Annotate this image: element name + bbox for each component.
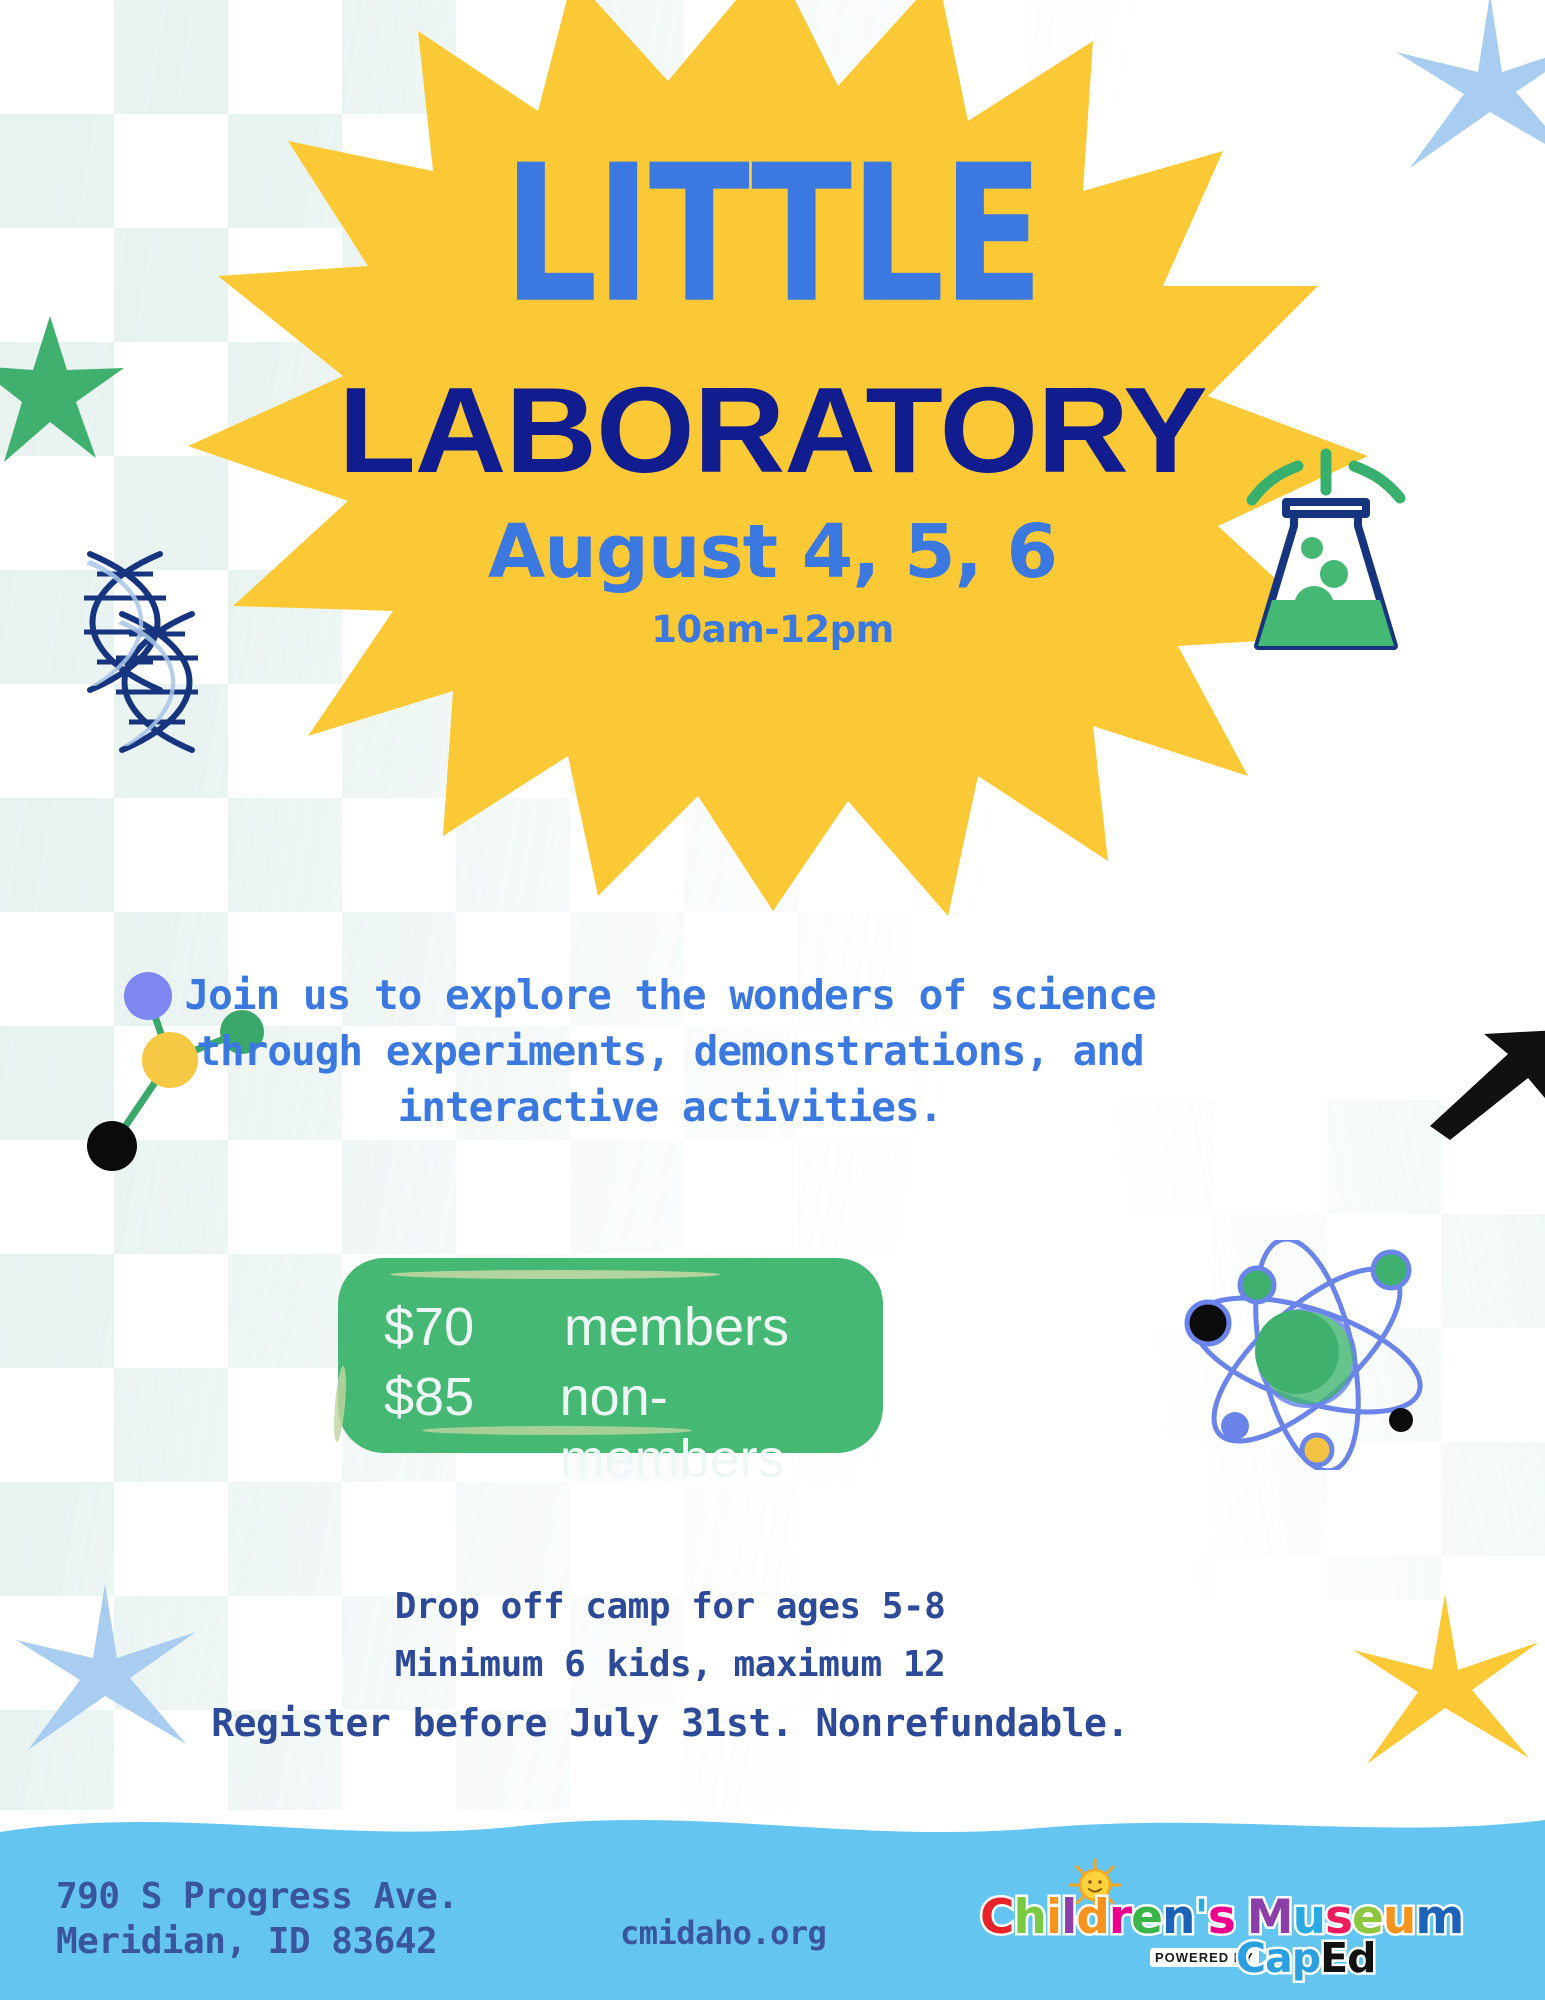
event-date: August 4, 5, 6	[0, 515, 1545, 589]
detail-line-ages: Drop off camp for ages 5-8	[120, 1578, 1220, 1636]
website-url[interactable]: cmidaho.org	[620, 1914, 826, 1952]
atom-icon	[1175, 1240, 1435, 1470]
price-amount-members: $70	[384, 1296, 534, 1358]
logo-letter-e: e	[1131, 1890, 1162, 1945]
caped-ed-text: Ed	[1320, 1934, 1375, 1982]
pricing-callout: $70 members $85 non-members	[338, 1258, 883, 1453]
intro-paragraph: Join us to explore the wonders of scienc…	[170, 968, 1170, 1135]
logo-letter-C: C	[980, 1890, 1014, 1945]
dark-arrow-icon	[1430, 1030, 1545, 1140]
caped-sponsor-mark: CapEd	[1236, 1934, 1375, 1982]
logo-letter-r: r	[1109, 1890, 1131, 1945]
caped-cap-text: Cap	[1236, 1934, 1320, 1982]
logo-letter-m2: m	[1415, 1890, 1463, 1945]
address-line-1: 790 S Progress Ave.	[56, 1874, 458, 1919]
logo-letter-l: l	[1061, 1890, 1076, 1945]
price-row-members: $70 members	[338, 1258, 883, 1358]
details-block: Drop off camp for ages 5-8 Minimum 6 kid…	[120, 1578, 1220, 1754]
headline-block: LiTTLe LABORATORY August 4, 5, 6 10am-12…	[0, 150, 1545, 648]
price-label-nonmembers: non-members	[560, 1366, 883, 1490]
event-time: 10am-12pm	[0, 611, 1545, 648]
logo-letter-n: n	[1162, 1890, 1194, 1945]
title-line-laboratory: LABORATORY	[0, 369, 1545, 491]
logo-letter-u2: u	[1383, 1890, 1415, 1945]
price-label-members: members	[564, 1296, 789, 1358]
footer-bar: 790 S Progress Ave. Meridian, ID 83642 c…	[0, 1848, 1545, 2000]
title-line-little: LiTTLe	[0, 150, 1545, 320]
logo-letter-i: i	[1046, 1890, 1061, 1945]
logo-letter-h: h	[1014, 1890, 1046, 1945]
address-line-2: Meridian, ID 83642	[56, 1919, 458, 1964]
childrens-museum-logo[interactable]: Children's Museum POWERED BY CapEd	[968, 1860, 1368, 1992]
price-amount-nonmembers: $85	[384, 1366, 530, 1428]
logo-letter-d: d	[1076, 1890, 1109, 1945]
footer-wave-edge	[0, 1802, 1545, 1848]
poster-canvas: LiTTLe LABORATORY August 4, 5, 6 10am-12…	[0, 0, 1545, 2000]
detail-line-capacity: Minimum 6 kids, maximum 12	[120, 1636, 1220, 1694]
logo-wordmark: Children's Museum	[980, 1890, 1463, 1945]
yellow-star-icon	[1345, 1590, 1545, 1790]
venue-address: 790 S Progress Ave. Meridian, ID 83642	[56, 1874, 458, 1964]
price-row-nonmembers: $85 non-members	[338, 1358, 883, 1490]
logo-letter-apos: '	[1194, 1890, 1207, 1945]
logo-letter-s: s	[1208, 1890, 1235, 1945]
detail-line-registration: Register before July 31st. Nonrefundable…	[120, 1693, 1220, 1754]
